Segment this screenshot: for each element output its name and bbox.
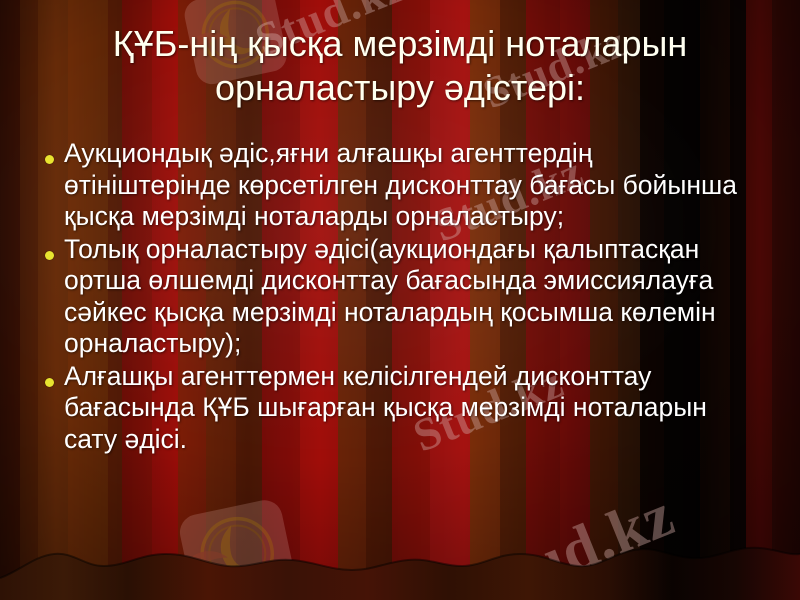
list-item-text: Толық орналастыру әдісі(аукциондағы қалы… <box>64 234 760 360</box>
list-item: Алғашқы агенттермен келісілгендей дискон… <box>34 361 760 456</box>
bullet-dot-icon <box>34 361 64 392</box>
bullet-dot-icon <box>34 138 64 169</box>
list-item: Толық орналастыру әдісі(аукциондағы қалы… <box>34 234 760 360</box>
list-item: Аукциондық әдіс,яғни алғашқы агенттердің… <box>34 138 760 233</box>
slide-bullet-list: Аукциондық әдіс,яғни алғашқы агенттердің… <box>34 138 760 456</box>
curtain-hem-drape <box>0 520 800 600</box>
bullet-dot-icon <box>34 234 64 265</box>
slide-title: ҚҰБ-нің қысқа мерзімді ноталарын орналас… <box>40 22 760 110</box>
list-item-text: Аукциондық әдіс,яғни алғашқы агенттердің… <box>64 138 760 233</box>
list-item-text: Алғашқы агенттермен келісілгендей дискон… <box>64 361 760 456</box>
presentation-slide: Stud.kz Stud.kz Stud.kz Stud.kz Stud.kz <box>0 0 800 600</box>
